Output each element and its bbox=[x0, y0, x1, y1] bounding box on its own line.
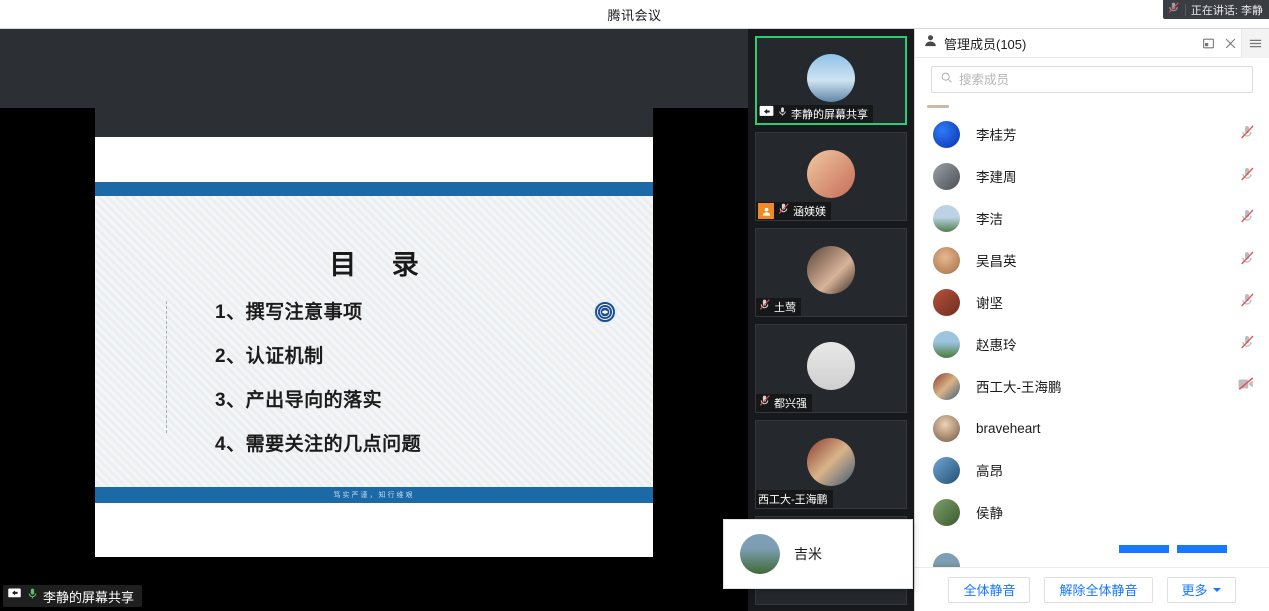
video-thumbnail[interactable]: 涵媄媄 bbox=[755, 132, 907, 221]
avatar bbox=[933, 163, 960, 190]
camera-off-icon[interactable] bbox=[1237, 376, 1255, 397]
mic-muted-icon[interactable] bbox=[1239, 124, 1255, 145]
partial-row-sliver bbox=[927, 105, 949, 108]
member-name: 西工大-王海鹏 bbox=[976, 376, 1062, 396]
close-icon[interactable] bbox=[1219, 29, 1241, 58]
avatar bbox=[933, 289, 960, 316]
video-thumbnail[interactable]: 土莺 bbox=[755, 228, 907, 317]
member-status bbox=[1237, 376, 1255, 397]
member-list[interactable]: 李桂芳 李建周 bbox=[915, 99, 1269, 567]
popout-icon[interactable] bbox=[1197, 29, 1219, 58]
member-status bbox=[1239, 334, 1255, 355]
screen-share-icon bbox=[7, 586, 22, 606]
search-box[interactable] bbox=[931, 66, 1253, 93]
mic-muted-icon bbox=[1167, 1, 1180, 19]
list-item[interactable]: 谢坚 bbox=[915, 281, 1269, 323]
member-name: 赵惠玲 bbox=[976, 334, 1017, 354]
mic-muted-icon[interactable] bbox=[1239, 208, 1255, 229]
avatar bbox=[933, 553, 960, 568]
member-name: 侯静 bbox=[976, 502, 1003, 522]
window-title: 腾讯会议 bbox=[607, 5, 661, 24]
list-item[interactable]: 赵惠玲 bbox=[915, 323, 1269, 365]
more-button[interactable]: 更多 bbox=[1167, 577, 1236, 603]
toc-item: 3、产出导向的落实 bbox=[215, 385, 635, 412]
list-item[interactable]: braveheart bbox=[915, 407, 1269, 449]
manage-members-panel: 管理成员(105) bbox=[914, 29, 1269, 611]
thumbnail-name: 都兴强 bbox=[774, 395, 807, 411]
slide-header-band bbox=[95, 137, 653, 182]
mic-muted-icon[interactable] bbox=[1239, 166, 1255, 187]
mic-muted-icon[interactable] bbox=[1239, 334, 1255, 355]
search-icon bbox=[940, 71, 953, 89]
avatar bbox=[807, 342, 855, 390]
thumbnail-name: 李静的屏幕共享 bbox=[791, 106, 868, 122]
list-item-partial bbox=[915, 99, 1269, 113]
list-item[interactable]: 李建周 bbox=[915, 155, 1269, 197]
mic-muted-icon[interactable] bbox=[1239, 250, 1255, 271]
list-item[interactable]: 西工大-王海鹏 bbox=[915, 365, 1269, 407]
mic-muted-icon bbox=[777, 202, 790, 220]
video-thumbnail[interactable]: 西工大-王海鹏 bbox=[755, 420, 907, 509]
screen-share-label: 李静的屏幕共享 bbox=[3, 585, 142, 607]
toc-item: 4、需要关注的几点问题 bbox=[215, 429, 635, 456]
university-seal-icon bbox=[593, 300, 617, 324]
presentation-slide: 目 录 1、撰写注意事项 2、认证机制 3、产出导向的落实 4、需要关注的几点问… bbox=[95, 137, 653, 557]
chip-divider bbox=[1185, 4, 1186, 16]
avatar bbox=[933, 457, 960, 484]
shared-screen-stage[interactable]: 目 录 1、撰写注意事项 2、认证机制 3、产出导向的落实 4、需要关注的几点问… bbox=[0, 29, 748, 611]
avatar bbox=[933, 415, 960, 442]
toc-item: 2、认证机制 bbox=[215, 341, 635, 368]
video-thumbnail[interactable]: 都兴强 bbox=[755, 324, 907, 413]
member-status bbox=[1239, 166, 1255, 187]
avatar bbox=[933, 247, 960, 274]
more-button-label: 更多 bbox=[1182, 580, 1208, 599]
avatar bbox=[807, 150, 855, 198]
thumbnail-label-bar: 都兴强 bbox=[756, 394, 812, 412]
hamburger-icon[interactable] bbox=[1241, 29, 1269, 58]
letterbox-top bbox=[0, 29, 748, 108]
thumbnail-label-bar: 土莺 bbox=[756, 298, 801, 316]
mic-muted-icon bbox=[758, 394, 771, 412]
active-speaker-indicator: 正在讲话: 李静 bbox=[1163, 0, 1269, 19]
video-thumbnail[interactable]: 李静的屏幕共享 bbox=[755, 36, 907, 125]
toc-divider bbox=[166, 301, 167, 433]
host-badge-icon bbox=[758, 203, 774, 219]
mic-muted-icon bbox=[758, 298, 771, 316]
toc-item: 1、撰写注意事项 bbox=[215, 297, 635, 324]
member-name: 李洁 bbox=[976, 208, 1003, 228]
avatar bbox=[933, 499, 960, 526]
panel-footer: 全体静音 解除全体静音 更多 bbox=[915, 567, 1269, 611]
avatar bbox=[807, 438, 855, 486]
hover-action-button[interactable] bbox=[1177, 545, 1227, 553]
member-name: braveheart bbox=[976, 421, 1041, 436]
avatar bbox=[807, 246, 855, 294]
list-item[interactable]: 侯静 bbox=[915, 491, 1269, 533]
member-status bbox=[1239, 250, 1255, 271]
avatar bbox=[933, 373, 960, 400]
slide-footer-band: 笃实严谨，知行维艰 bbox=[95, 487, 653, 503]
avatar bbox=[933, 121, 960, 148]
thumbnail-label-bar: 西工大-王海鹏 bbox=[756, 490, 833, 508]
member-name: 李桂芳 bbox=[976, 124, 1017, 144]
search-area bbox=[915, 58, 1269, 99]
member-status bbox=[1239, 124, 1255, 145]
screen-share-icon bbox=[759, 105, 774, 123]
panel-header: 管理成员(105) bbox=[915, 29, 1269, 58]
thumbnail-label-bar: 涵媄媄 bbox=[756, 202, 831, 220]
slide-toc-list: 1、撰写注意事项 2、认证机制 3、产出导向的落实 4、需要关注的几点问题 bbox=[215, 297, 635, 473]
panel-title: 管理成员(105) bbox=[944, 34, 1026, 53]
list-item-cutoff bbox=[915, 545, 1269, 567]
search-input[interactable] bbox=[959, 73, 1244, 87]
list-item[interactable]: 高昂 bbox=[915, 449, 1269, 491]
screen-share-owner: 李静的屏幕共享 bbox=[43, 587, 134, 606]
letterbox-left bbox=[0, 108, 95, 611]
member-status bbox=[1239, 208, 1255, 229]
participant-name-tooltip: 吉米 bbox=[723, 519, 913, 589]
member-name: 李建周 bbox=[976, 166, 1017, 186]
mute-all-button[interactable]: 全体静音 bbox=[948, 577, 1030, 603]
list-item[interactable]: 李洁 bbox=[915, 197, 1269, 239]
slide-footer-text: 笃实严谨，知行维艰 bbox=[334, 490, 415, 500]
member-name: 吴昌英 bbox=[976, 250, 1017, 270]
person-icon bbox=[923, 33, 938, 53]
thumbnail-label-bar: 李静的屏幕共享 bbox=[757, 105, 873, 123]
thumbnail-name: 涵媄媄 bbox=[793, 203, 826, 219]
chevron-down-icon bbox=[1213, 588, 1221, 592]
participant-name: 吉米 bbox=[794, 544, 822, 564]
avatar bbox=[933, 331, 960, 358]
window-title-bar: 腾讯会议 bbox=[0, 0, 1269, 29]
active-speaker-label: 正在讲话: 李静 bbox=[1191, 2, 1263, 18]
avatar bbox=[807, 54, 855, 102]
member-name: 谢坚 bbox=[976, 292, 1003, 312]
mic-icon bbox=[777, 105, 788, 123]
hover-action-button[interactable] bbox=[1119, 545, 1169, 553]
mic-icon bbox=[26, 586, 39, 606]
slide-title: 目 录 bbox=[95, 243, 653, 282]
member-status bbox=[1239, 292, 1255, 313]
mic-muted-icon[interactable] bbox=[1239, 292, 1255, 313]
member-name: 高昂 bbox=[976, 460, 1003, 480]
avatar bbox=[933, 205, 960, 232]
list-item[interactable]: 吴昌英 bbox=[915, 239, 1269, 281]
unmute-all-button[interactable]: 解除全体静音 bbox=[1044, 577, 1152, 603]
thumbnail-name: 土莺 bbox=[774, 299, 796, 315]
panel-header-actions bbox=[1197, 29, 1269, 57]
thumbnail-name: 西工大-王海鹏 bbox=[758, 491, 828, 507]
list-item[interactable]: 李桂芳 bbox=[915, 113, 1269, 155]
slide-bottom-band bbox=[95, 503, 653, 557]
avatar bbox=[740, 534, 780, 574]
